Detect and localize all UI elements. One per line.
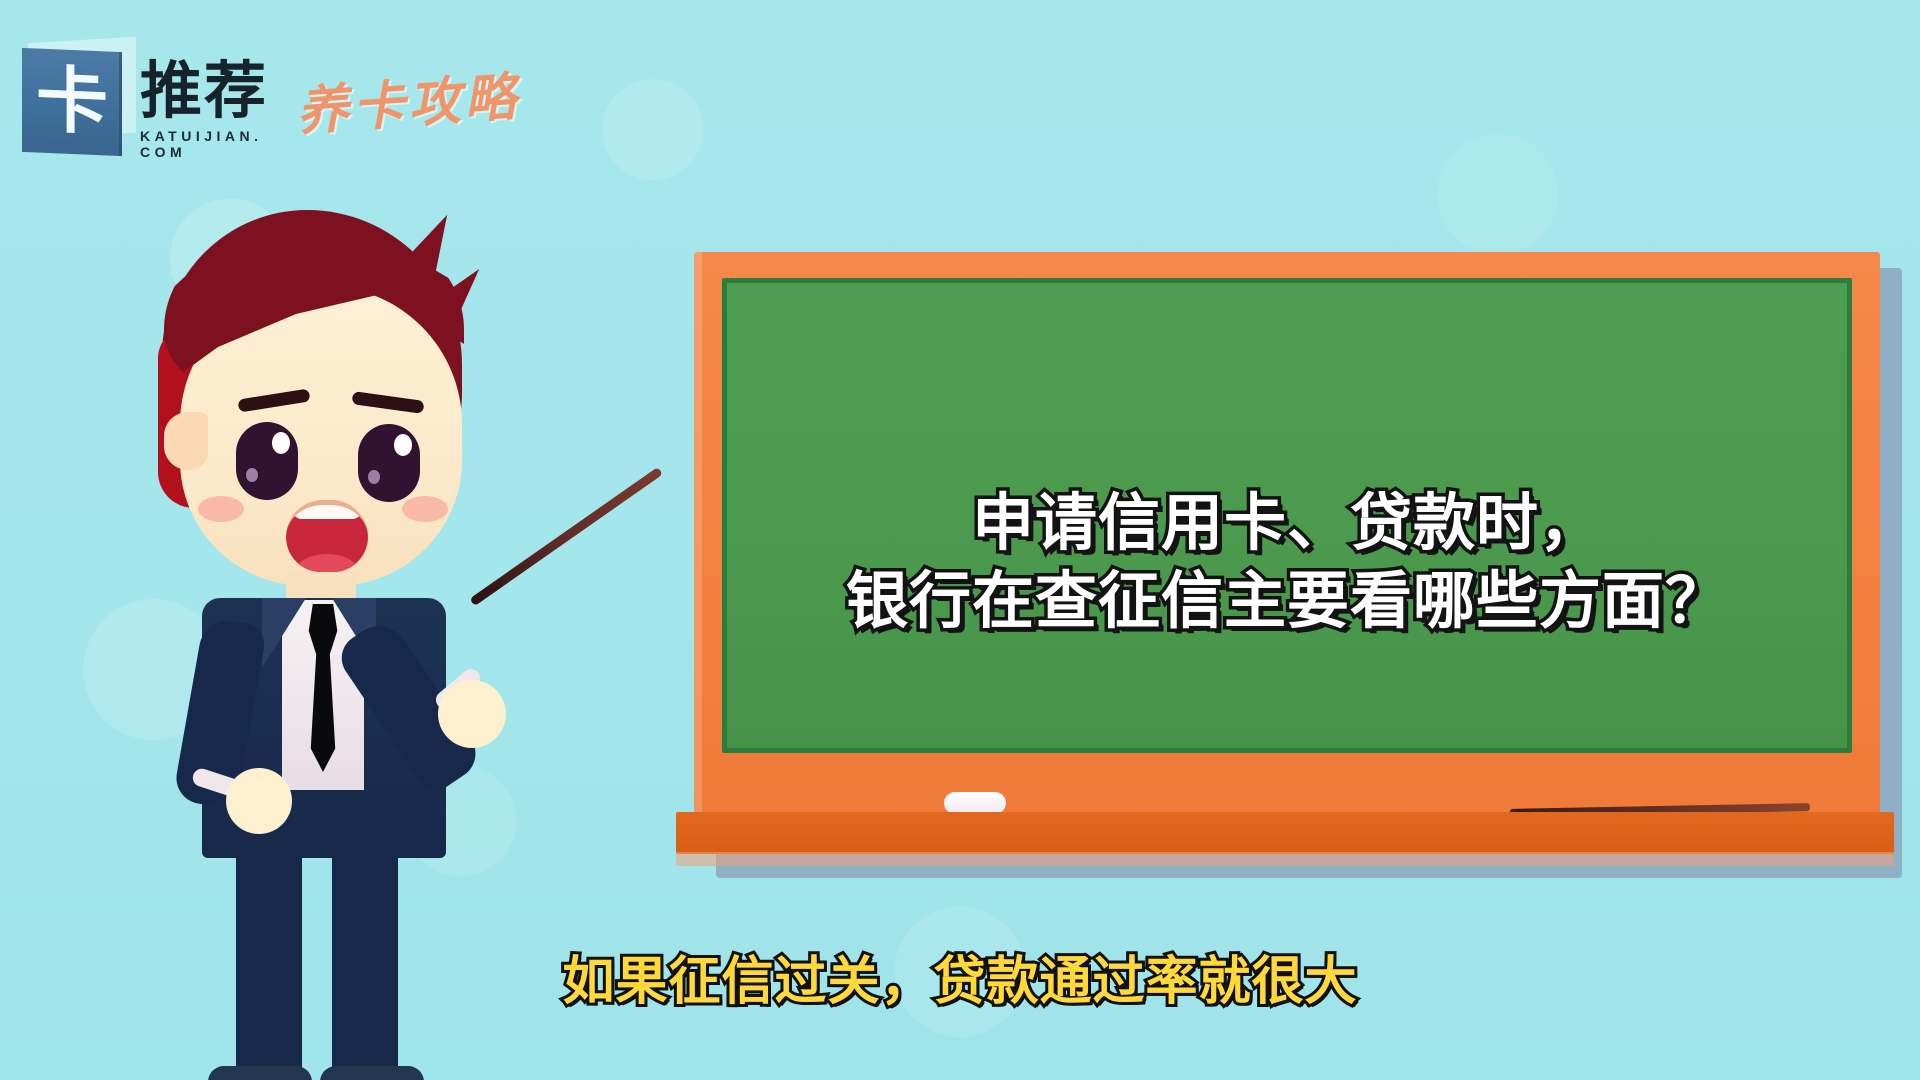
brand-tagline: 养卡攻略 — [294, 54, 523, 144]
blackboard-line-1: 申请信用卡、贷款时， — [972, 485, 1602, 563]
teeth — [292, 505, 362, 519]
suit-lapel-left — [262, 598, 306, 668]
card-logo-icon: 卡 — [22, 46, 130, 154]
eye-highlight — [394, 434, 412, 456]
video-frame: 卡 推荐 KATUIJIAN. COM 养卡攻略 申请信用卡、贷款时， 银行在查… — [0, 0, 1920, 1080]
hand-right — [438, 680, 506, 748]
ear — [164, 412, 208, 470]
blackboard-line-2: 银行在查征信主要看哪些方面？ — [846, 563, 1728, 641]
shoe-right — [320, 1066, 424, 1080]
shoe-left — [208, 1066, 312, 1080]
eye-left — [236, 422, 298, 500]
cheek-left — [198, 496, 244, 522]
tongue — [296, 554, 358, 572]
hand-left — [226, 768, 292, 834]
eye-right — [358, 424, 420, 502]
brand-name: 推荐 — [140, 60, 300, 124]
eye-highlight-small — [368, 470, 380, 484]
caption-subtitle: 如果征信过关，贷款通过率就很大 — [0, 952, 1920, 1012]
blackboard-text-block: 申请信用卡、贷款时， 银行在查征信主要看哪些方面？ — [694, 252, 1880, 753]
chalk-icon — [944, 792, 1006, 814]
eye-highlight — [272, 432, 290, 454]
blackboard-tray — [676, 812, 1894, 854]
blackboard-tray-shadow — [676, 852, 1894, 866]
eye-highlight-small — [246, 468, 258, 482]
cheek-right — [402, 496, 448, 522]
brand-domain: KATUIJIAN. COM — [140, 128, 300, 160]
card-logo-glyph: 卡 — [22, 48, 122, 156]
teacher-character — [80, 200, 560, 990]
mouth — [286, 500, 368, 572]
brand-wordmark: 推荐 KATUIJIAN. COM — [140, 60, 300, 160]
